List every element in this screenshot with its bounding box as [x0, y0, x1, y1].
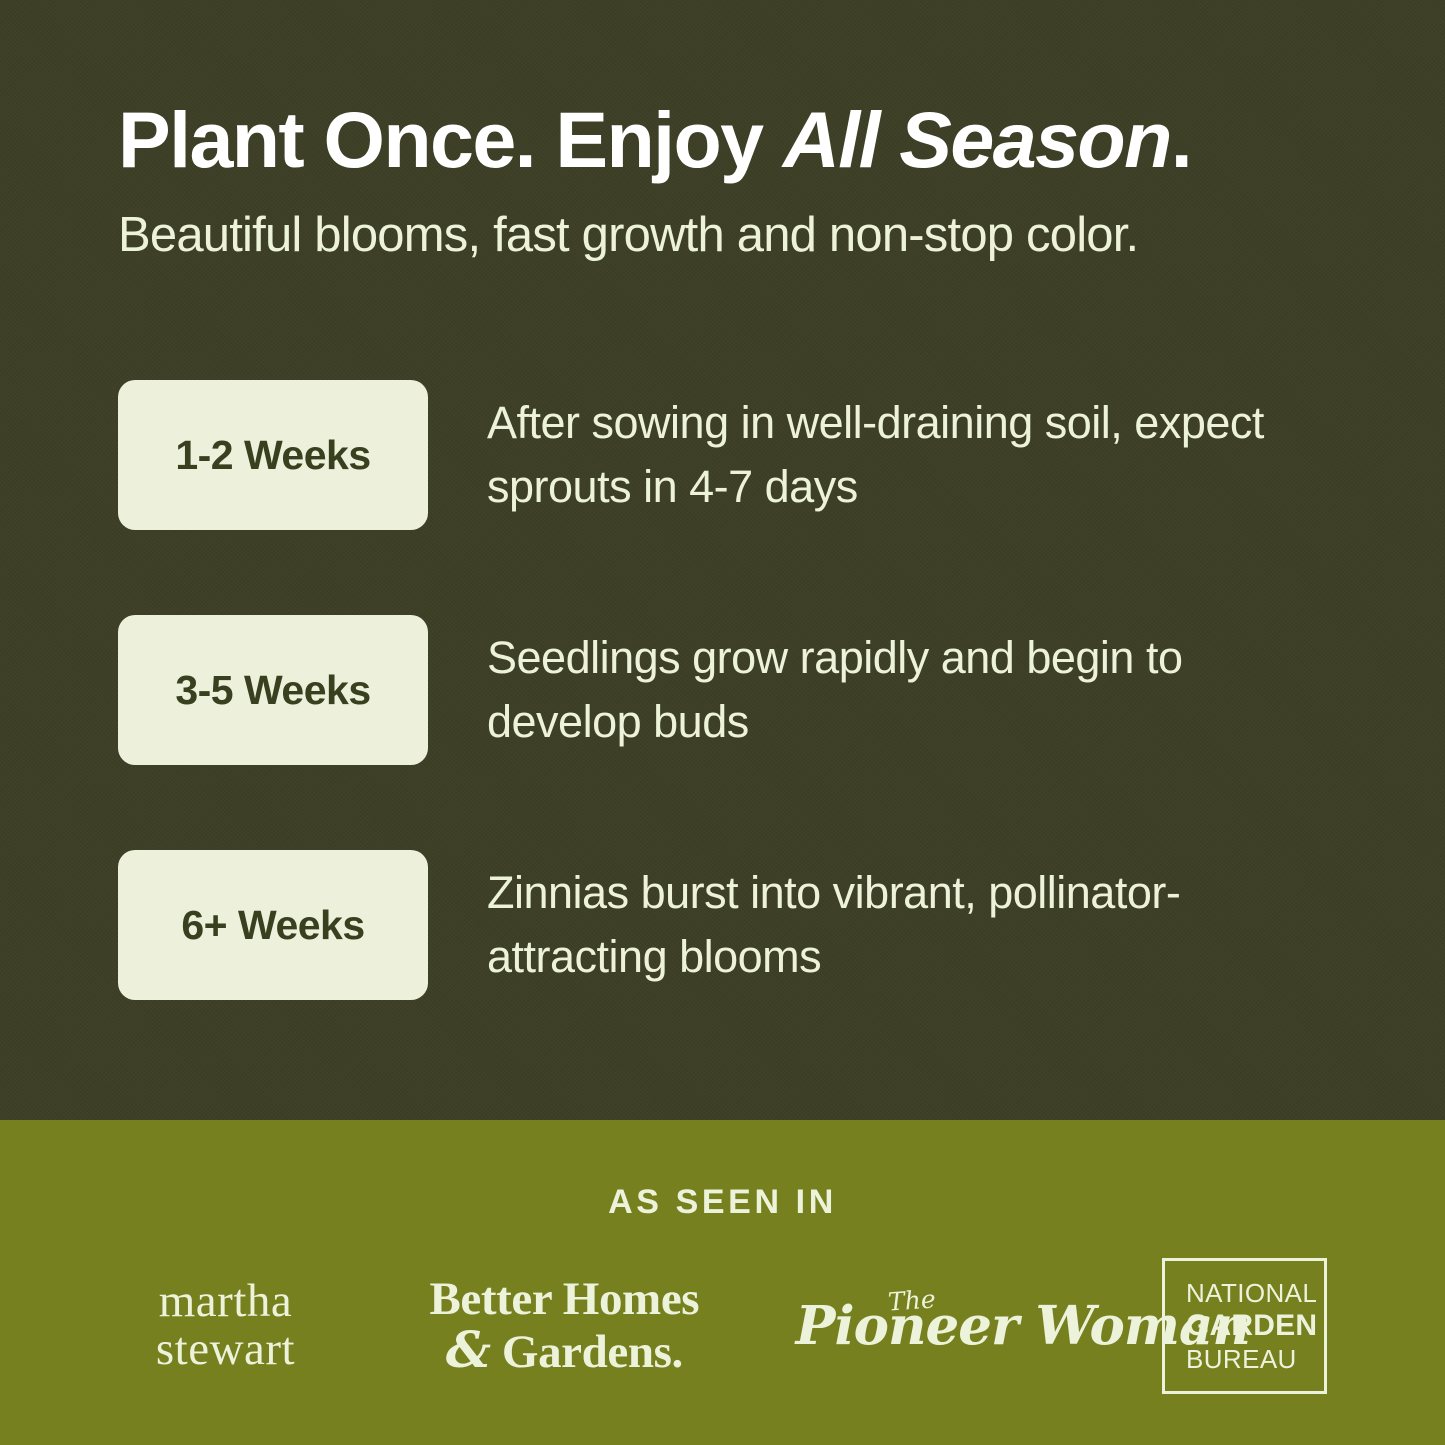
as-seen-in-band: AS SEEN IN martha stewart Better Homes &…: [0, 1120, 1445, 1445]
martha-stewart-logo-line1: martha: [118, 1278, 333, 1326]
headline-emphasis: All Season: [783, 95, 1171, 184]
the-pioneer-woman-logo: Pioneer Woman The: [796, 1280, 1076, 1372]
hero-panel: Plant Once. Enjoy All Season. Beautiful …: [0, 0, 1445, 1120]
ampersand-glyph: &: [446, 1320, 491, 1379]
bhg-logo-line1: Better Homes: [419, 1275, 709, 1324]
pioneer-woman-logo-main: Pioneer Woman: [796, 1280, 1076, 1372]
page-title: Plant Once. Enjoy All Season.: [118, 100, 1348, 179]
timeline-row: 1-2 Weeks After sowing in well-draining …: [118, 380, 1348, 530]
timeline-description-3: Zinnias burst into vibrant, pollinator-a…: [487, 861, 1347, 989]
headline-text-part2: .: [1171, 95, 1191, 184]
timeline-description-1: After sowing in well-draining soil, expe…: [487, 391, 1347, 519]
timeline-description-2: Seedlings grow rapidly and begin to deve…: [487, 626, 1347, 754]
better-homes-and-gardens-logo: Better Homes & Gardens.: [419, 1275, 709, 1377]
timeline-badge-3: 6+ Weeks: [118, 850, 428, 1000]
timeline-badge-2: 3-5 Weeks: [118, 615, 428, 765]
martha-stewart-logo-line2: stewart: [118, 1326, 333, 1374]
as-seen-in-label: AS SEEN IN: [0, 1120, 1445, 1222]
bhg-logo-line2-text: Gardens.: [491, 1326, 683, 1378]
timeline-row: 6+ Weeks Zinnias burst into vibrant, pol…: [118, 850, 1348, 1000]
timeline-row: 3-5 Weeks Seedlings grow rapidly and beg…: [118, 615, 1348, 765]
bhg-logo-line2: & Gardens.: [419, 1324, 709, 1377]
pioneer-woman-logo-the: The: [887, 1286, 936, 1314]
martha-stewart-logo: martha stewart: [118, 1278, 333, 1374]
growth-timeline: 1-2 Weeks After sowing in well-draining …: [118, 380, 1348, 1000]
press-logo-row: martha stewart Better Homes & Gardens. P…: [0, 1222, 1445, 1394]
promo-poster: Plant Once. Enjoy All Season. Beautiful …: [0, 0, 1445, 1445]
timeline-badge-1: 1-2 Weeks: [118, 380, 428, 530]
page-subtitle: Beautiful blooms, fast growth and non-st…: [118, 207, 1398, 263]
headline-text-part1: Plant Once. Enjoy: [118, 95, 783, 184]
